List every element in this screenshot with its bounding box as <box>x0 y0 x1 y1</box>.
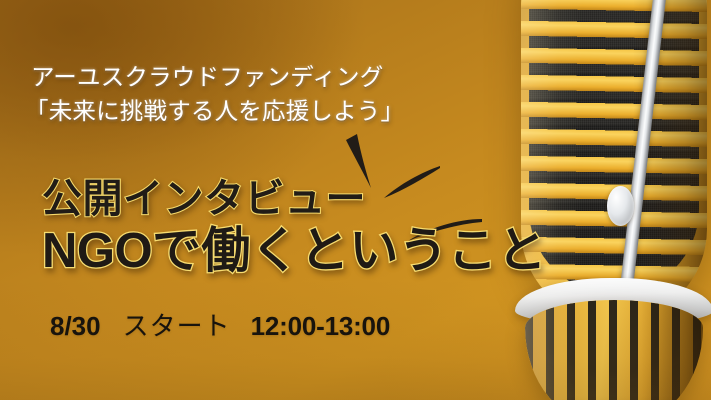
headline-line-2: NGOで働くということ <box>42 225 662 278</box>
tagline: 「未来に挑戦する人を応援しよう」 <box>25 94 501 128</box>
microphone-collar <box>515 278 711 324</box>
event-date: 8/30 <box>50 311 101 341</box>
headline-line-1: 公開インタビュー <box>42 178 662 221</box>
event-time-range: 12:00-13:00 <box>251 311 390 341</box>
microphone-lower-highlight <box>525 300 583 400</box>
microphone-lower-grille <box>525 300 703 400</box>
schedule-line: 8/30スタート12:00-13:00 <box>50 311 390 342</box>
event-banner: アーユスクラウドファンディング 「未来に挑戦する人を応援しよう」 公開インタビュ… <box>0 0 711 400</box>
headline-block: 公開インタビュー NGOで働くということ <box>42 178 662 278</box>
headline-line-2-rest: で働くということ <box>152 224 546 278</box>
microphone-vertical-ribs <box>525 300 703 400</box>
intro-text-block: アーユスクラウドファンディング 「未来に挑戦する人を応援しよう」 <box>31 60 501 128</box>
microphone-lower-shadow <box>641 300 703 400</box>
organization-line: アーユスクラウドファンディング <box>31 60 501 94</box>
headline-ngo-label: NGO <box>42 224 152 278</box>
start-label: スタート <box>123 311 231 341</box>
